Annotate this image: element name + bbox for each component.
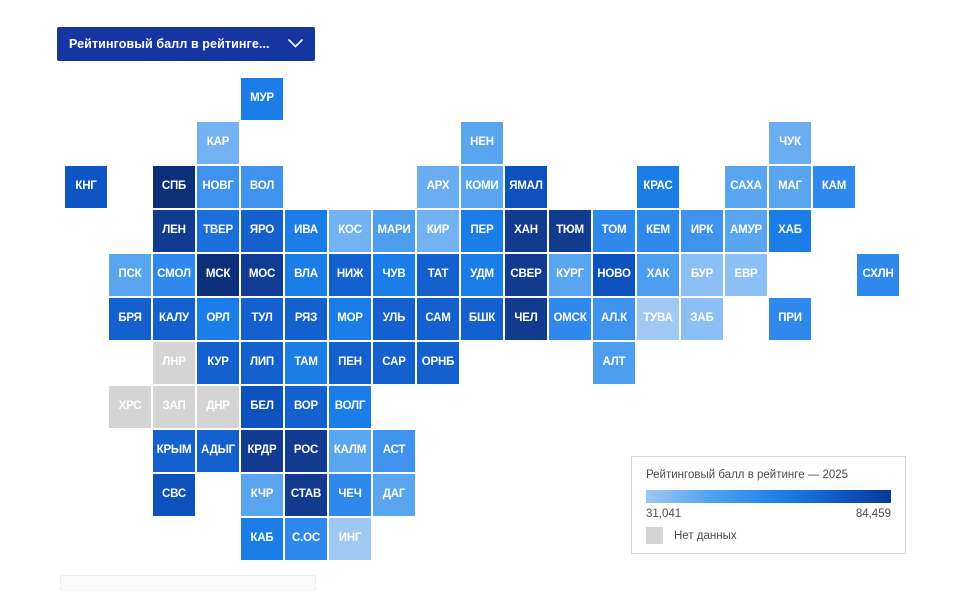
map-tile[interactable]: ВОЛ (241, 166, 283, 208)
map-tile[interactable]: СХЛН (857, 254, 899, 296)
map-tile[interactable]: ЛНР (153, 342, 195, 384)
map-tile[interactable]: МСК (197, 254, 239, 296)
map-tile[interactable]: УЛЬ (373, 298, 415, 340)
map-tile[interactable]: ТОМ (593, 210, 635, 252)
legend-gradient-bar (646, 490, 891, 503)
map-tile[interactable]: С.ОС (285, 518, 327, 560)
map-tile[interactable]: ХАК (637, 254, 679, 296)
map-tile[interactable]: ТУЛ (241, 298, 283, 340)
map-tile[interactable]: ДНР (197, 386, 239, 428)
map-tile[interactable]: ЧУВ (373, 254, 415, 296)
map-tile[interactable]: РЯЗ (285, 298, 327, 340)
map-tile[interactable]: АДЫГ (197, 430, 239, 472)
map-tile[interactable]: ЕВР (725, 254, 767, 296)
legend-title: Рейтинговый балл в рейтинге — 2025 (646, 469, 891, 481)
map-tile[interactable]: АСТ (373, 430, 415, 472)
map-tile[interactable]: ИВА (285, 210, 327, 252)
map-tile[interactable]: ХАБ (769, 210, 811, 252)
map-tile[interactable]: КРДР (241, 430, 283, 472)
map-tile[interactable]: КАБ (241, 518, 283, 560)
map-tile[interactable]: УДМ (461, 254, 503, 296)
map-tile[interactable]: КОС (329, 210, 371, 252)
map-tile[interactable]: СВЕР (505, 254, 547, 296)
map-tile[interactable]: ЧЕЧ (329, 474, 371, 516)
map-tile[interactable]: ПЕР (461, 210, 503, 252)
map-tile[interactable]: СПБ (153, 166, 195, 208)
map-tile[interactable]: КАЛУ (153, 298, 195, 340)
map-tile[interactable]: ЯМАЛ (505, 166, 547, 208)
map-tile[interactable]: КЧР (241, 474, 283, 516)
map-tile[interactable]: КУР (197, 342, 239, 384)
map-tile[interactable]: ХРС (109, 386, 151, 428)
map-tile[interactable]: АМУР (725, 210, 767, 252)
map-tile[interactable]: ИНГ (329, 518, 371, 560)
map-tile[interactable]: КАМ (813, 166, 855, 208)
map-tile[interactable]: МАРИ (373, 210, 415, 252)
map-tile[interactable]: САХА (725, 166, 767, 208)
map-tile[interactable]: ИРК (681, 210, 723, 252)
map-tile[interactable]: БУР (681, 254, 723, 296)
map-tile[interactable]: КАЛМ (329, 430, 371, 472)
legend-scale: 31,041 84,459 (646, 508, 891, 520)
map-tile[interactable]: ЧЕЛ (505, 298, 547, 340)
map-tile[interactable]: АЛ.К (593, 298, 635, 340)
nodata-swatch-icon (646, 527, 663, 544)
map-tile[interactable]: ТАТ (417, 254, 459, 296)
map-tile[interactable]: КРЫМ (153, 430, 195, 472)
bottom-panel (60, 575, 316, 591)
map-tile[interactable]: БРЯ (109, 298, 151, 340)
map-tile[interactable]: ТУВА (637, 298, 679, 340)
map-tile[interactable]: РОС (285, 430, 327, 472)
map-tile[interactable]: КНГ (65, 166, 107, 208)
map-tile[interactable]: НИЖ (329, 254, 371, 296)
map-tile[interactable]: ПСК (109, 254, 151, 296)
map-tile[interactable]: САМ (417, 298, 459, 340)
legend-nodata-row: Нет данных (646, 527, 891, 544)
map-tile[interactable]: ВОЛГ (329, 386, 371, 428)
map-tile[interactable]: АРХ (417, 166, 459, 208)
map-tile[interactable]: ОРНБ (417, 342, 459, 384)
map-tile[interactable]: НЕН (461, 122, 503, 164)
map-tile[interactable]: САР (373, 342, 415, 384)
map-tile[interactable]: КИР (417, 210, 459, 252)
map-tile[interactable]: МОС (241, 254, 283, 296)
map-tile[interactable]: ЯРО (241, 210, 283, 252)
map-tile[interactable]: ПРИ (769, 298, 811, 340)
map-tile[interactable]: ТЮМ (549, 210, 591, 252)
map-tile[interactable]: ТВЕР (197, 210, 239, 252)
map-tile[interactable]: КРАС (637, 166, 679, 208)
map-tile[interactable]: МУР (241, 78, 283, 120)
map-tile[interactable]: ЧУК (769, 122, 811, 164)
map-tile[interactable]: ЛЕН (153, 210, 195, 252)
map-tile[interactable]: ХАН (505, 210, 547, 252)
map-tile[interactable]: КУРГ (549, 254, 591, 296)
map-tile[interactable]: СВС (153, 474, 195, 516)
map-tile[interactable]: ДАГ (373, 474, 415, 516)
map-tile[interactable]: ЗАБ (681, 298, 723, 340)
map-tile[interactable]: СТАВ (285, 474, 327, 516)
map-tile[interactable]: ВЛА (285, 254, 327, 296)
map-tile[interactable]: МОР (329, 298, 371, 340)
map-tile[interactable]: СМОЛ (153, 254, 195, 296)
map-tile[interactable]: ЗАП (153, 386, 195, 428)
legend-nodata-label: Нет данных (674, 530, 737, 542)
map-tile[interactable]: БЕЛ (241, 386, 283, 428)
map-tile[interactable]: ЛИП (241, 342, 283, 384)
map-tile[interactable]: БШК (461, 298, 503, 340)
map-tile[interactable]: МАГ (769, 166, 811, 208)
map-tile[interactable]: ВОР (285, 386, 327, 428)
legend-max-value: 84,459 (856, 508, 891, 520)
map-legend: Рейтинговый балл в рейтинге — 2025 31,04… (631, 456, 906, 554)
map-tile[interactable]: КЕМ (637, 210, 679, 252)
map-tile[interactable]: ОРЛ (197, 298, 239, 340)
map-tile[interactable]: ПЕН (329, 342, 371, 384)
map-tile[interactable]: НОВГ (197, 166, 239, 208)
map-tile[interactable]: КОМИ (461, 166, 503, 208)
legend-min-value: 31,041 (646, 508, 681, 520)
map-tile[interactable]: ТАМ (285, 342, 327, 384)
map-tile[interactable]: КАР (197, 122, 239, 164)
map-tile[interactable]: ОМСК (549, 298, 591, 340)
map-tile[interactable]: НОВО (593, 254, 635, 296)
map-tile[interactable]: АЛТ (593, 342, 635, 384)
